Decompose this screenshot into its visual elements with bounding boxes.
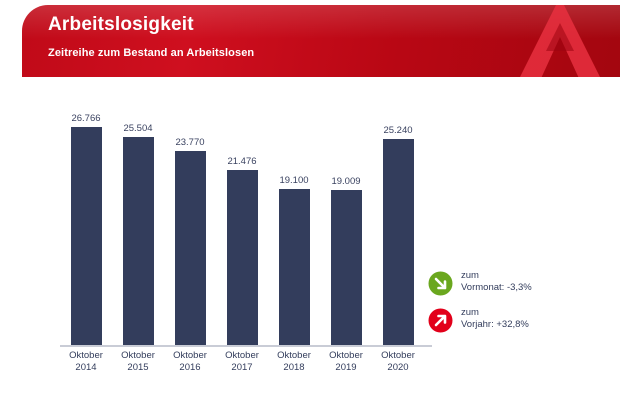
tick-year: 2019 [320,362,372,374]
x-tick-label: Oktober 2017 [216,350,268,374]
bar-value-label: 25.240 [372,125,424,136]
legend-line-1: zum [461,307,529,319]
x-axis-tick-labels: Oktober 2014 Oktober 2015 Oktober 2016 O… [60,350,428,384]
legend-item-text: zum Vormonat: -3,3% [461,270,532,294]
tick-year: 2018 [268,362,320,374]
bar-value-label: 26.766 [60,113,112,124]
x-tick-label: Oktober 2014 [60,350,112,374]
tick-month: Oktober [372,350,424,362]
page-subtitle: Zeitreihe zum Bestand an Arbeitslosen [48,47,254,59]
legend-item-text: zum Vorjahr: +32,8% [461,307,529,331]
bar-rect[interactable] [123,137,154,345]
bar-value-label: 19.009 [320,176,372,187]
tick-month: Oktober [216,350,268,362]
bar-group: 19.100 [268,95,320,345]
legend: zum Vormonat: -3,3% zum Vorjahr: +32,8% [428,271,598,345]
arrow-down-right-circle-icon [428,271,453,296]
bar-rect[interactable] [227,170,258,345]
legend-line-2: Vormonat: -3,3% [461,282,532,294]
x-tick-label: Oktober 2016 [164,350,216,374]
tick-year: 2016 [164,362,216,374]
bar-plot: 26.766 25.504 23.770 21.476 19.100 19.00… [60,95,428,345]
bar-group: 25.240 [372,95,424,345]
bar-group: 25.504 [112,95,164,345]
legend-line-2: Vorjahr: +32,8% [461,319,529,331]
tick-month: Oktober [112,350,164,362]
bar-value-label: 21.476 [216,156,268,167]
bar-rect[interactable] [279,189,310,345]
ba-arrow-a-logo-icon [508,5,612,77]
legend-item-vorjahr: zum Vorjahr: +32,8% [428,308,598,345]
tick-year: 2014 [60,362,112,374]
bar-value-label: 25.504 [112,123,164,134]
chart-area: 26.766 25.504 23.770 21.476 19.100 19.00… [0,95,620,385]
tick-year: 2017 [216,362,268,374]
bar-group: 21.476 [216,95,268,345]
bar-value-label: 19.100 [268,175,320,186]
x-tick-label: Oktober 2015 [112,350,164,374]
tick-month: Oktober [60,350,112,362]
x-tick-label: Oktober 2019 [320,350,372,374]
x-axis-line [60,345,432,347]
bar-value-label: 23.770 [164,137,216,148]
bar-rect[interactable] [71,127,102,345]
x-tick-label: Oktober 2020 [372,350,424,374]
legend-line-1: zum [461,270,532,282]
tick-month: Oktober [268,350,320,362]
bar-group: 26.766 [60,95,112,345]
bar-rect[interactable] [175,151,206,345]
page-title: Arbeitslosigkeit [48,14,194,36]
tick-year: 2020 [372,362,424,374]
tick-year: 2015 [112,362,164,374]
legend-item-vormonat: zum Vormonat: -3,3% [428,271,598,308]
bar-group: 23.770 [164,95,216,345]
header-banner: Arbeitslosigkeit Zeitreihe zum Bestand a… [22,5,620,77]
bar-rect[interactable] [331,190,362,345]
x-tick-label: Oktober 2018 [268,350,320,374]
arrow-up-right-circle-icon [428,308,453,333]
bar-group: 19.009 [320,95,372,345]
tick-month: Oktober [164,350,216,362]
tick-month: Oktober [320,350,372,362]
bar-rect[interactable] [383,139,414,345]
